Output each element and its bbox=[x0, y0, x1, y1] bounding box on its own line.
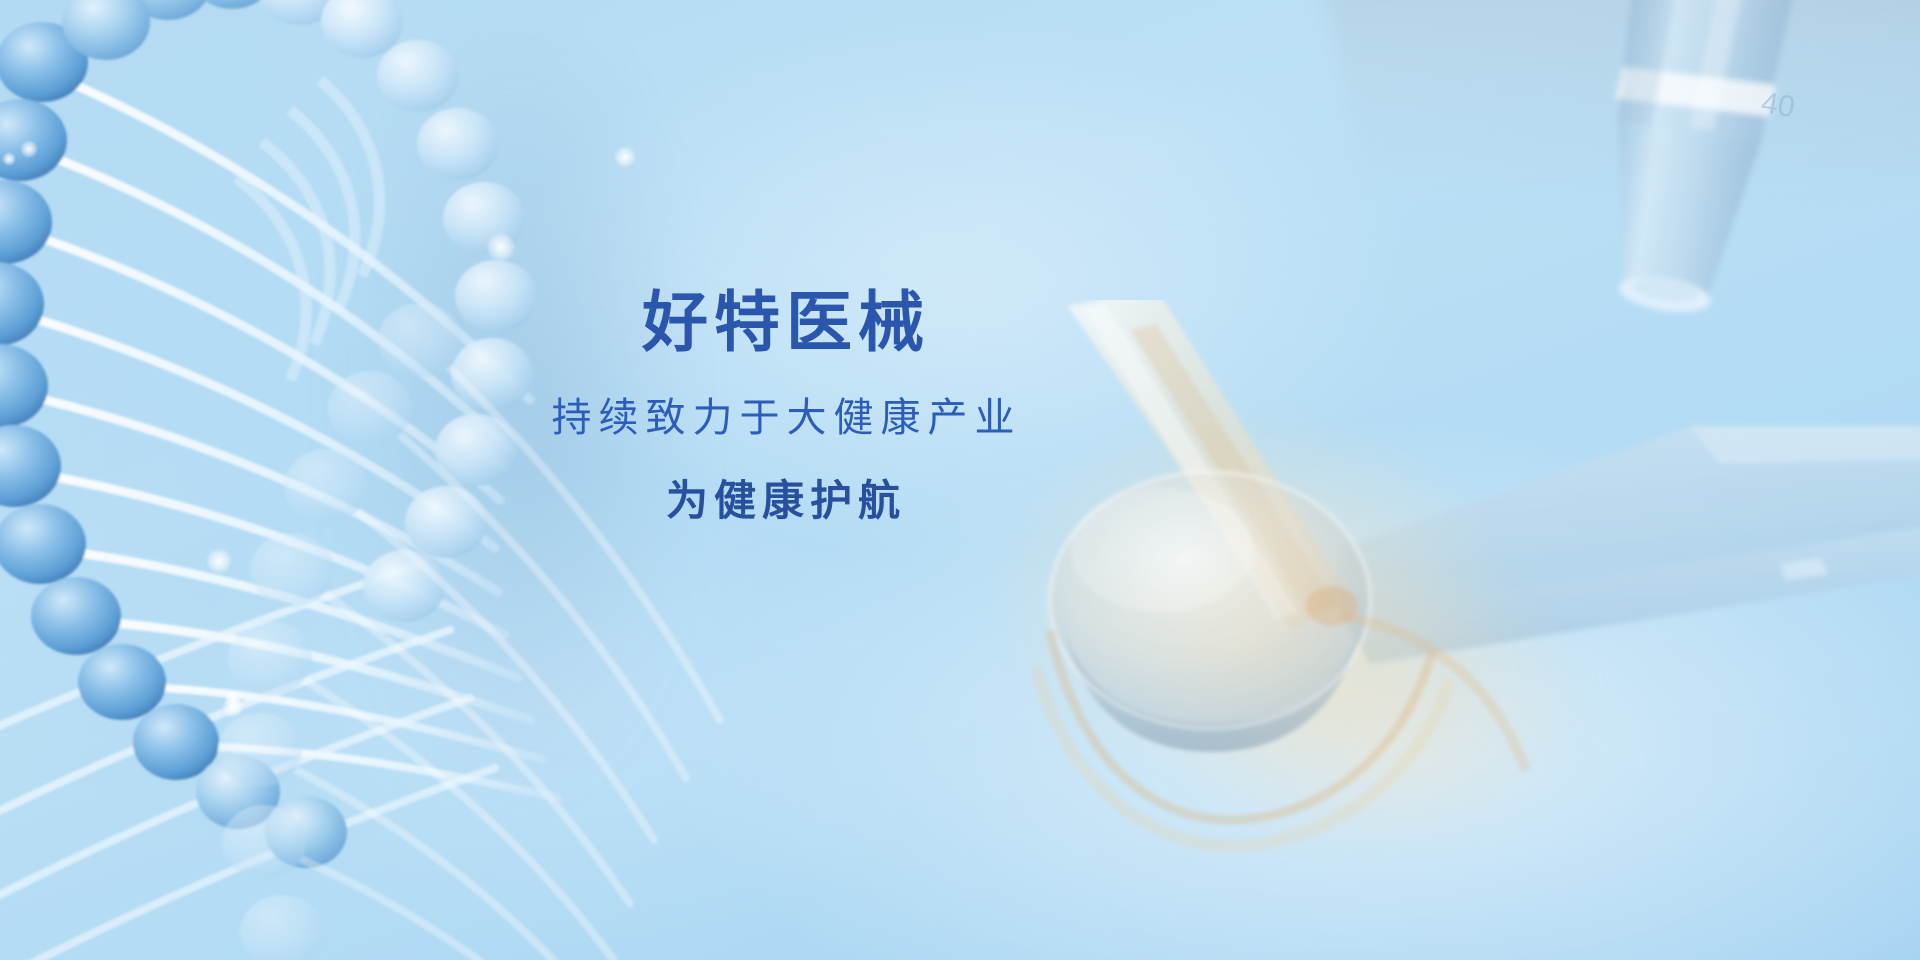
hero-subtitle: 持续致力于大健康产业 bbox=[0, 396, 1566, 440]
page-title: 好特医械 bbox=[0, 286, 1566, 360]
hero-copy-block: 好特医械 持续致力于大健康产业 为健康护航 bbox=[0, 286, 1566, 524]
hero-tagline: 为健康护航 bbox=[0, 478, 1566, 524]
hero-banner: 40 bbox=[0, 0, 1920, 960]
